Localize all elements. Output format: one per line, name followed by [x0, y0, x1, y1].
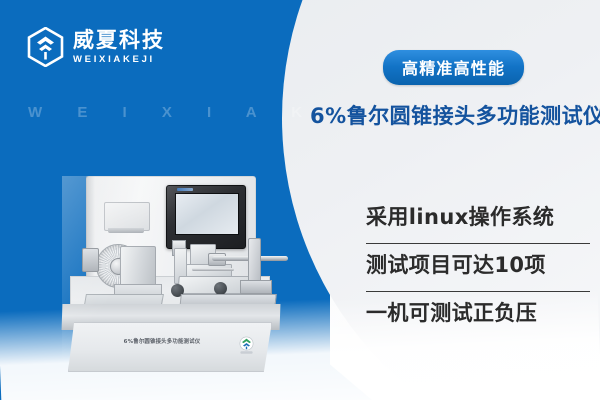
wheel-arm [82, 248, 99, 272]
left-clamp-block [120, 246, 156, 288]
promo-badge: 高精准高性能 [383, 50, 524, 85]
brand-logo-text: 威夏科技 WEIXIAKEJI [73, 30, 165, 65]
feature-item: 测试项目可达10项 [366, 246, 590, 294]
brand-watermark: W E I X I A K E J I [28, 104, 328, 121]
feature-item: 采用linux操作系统 [366, 198, 590, 246]
feature-divider [366, 291, 590, 292]
product-name-plate: 6%鲁尔圆锥接头多功能测试仪 [92, 337, 232, 345]
weixia-hexagon-logo-icon [27, 27, 64, 67]
hmi-screen [175, 193, 239, 235]
feature-divider [366, 243, 590, 244]
feature-label: 一机可测试正负压 [366, 294, 590, 332]
port-lip [108, 228, 144, 233]
hmi-led-strip [177, 188, 193, 191]
promo-banner: 威夏科技 WEIXIAKEJI W E I X I A K E J I 高精准高… [0, 0, 600, 400]
manufacturer-badge-icon [238, 336, 255, 355]
feature-list: 采用linux操作系统 测试项目可达10项 一机可测试正负压 [366, 198, 590, 342]
port-plate [104, 202, 150, 231]
feature-item: 一机可测试正负压 [366, 294, 590, 342]
feature-label: 采用linux操作系统 [366, 198, 590, 236]
short-rod [192, 268, 234, 271]
product-photo: 6%鲁尔圆锥接头多功能测试仪 [62, 176, 288, 372]
brand-logo: 威夏科技 WEIXIAKEJI [27, 27, 165, 67]
brand-name-en: WEIXIAKEJI [73, 55, 165, 65]
promo-headline: 6%鲁尔圆锥接头多功能测试仪 [310, 100, 595, 130]
brand-name-cn: 威夏科技 [73, 30, 165, 51]
feature-label: 测试项目可达10项 [366, 246, 590, 284]
right-post-foot [240, 280, 272, 294]
